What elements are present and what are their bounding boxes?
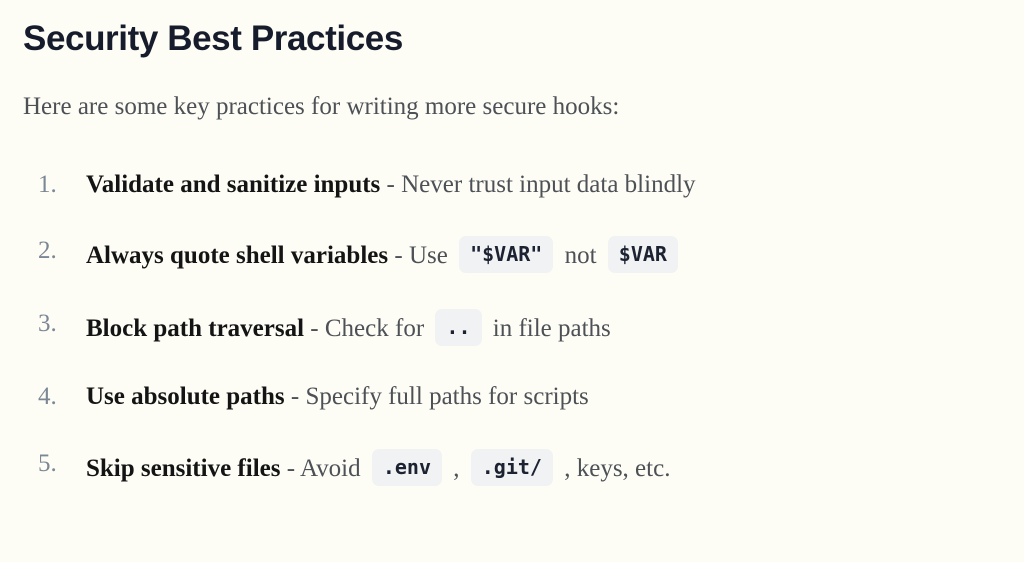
list-item: 3. Block path traversal - Check for .. i… [22,309,1002,346]
practices-list: 1. Validate and sanitize inputs - Never … [22,170,1002,486]
practice-description-after: , keys, etc. [564,455,670,482]
code-chip: $VAR [608,236,678,273]
practice-description: Check for [325,315,424,342]
list-marker: 4. [38,382,76,413]
practice-term: Validate and sanitize inputs [86,171,380,198]
list-marker: 5. [38,449,76,480]
practice-description: Use [409,242,448,269]
list-item: 2. Always quote shell variables - Use "$… [22,236,1002,273]
term-separator: - [287,455,295,482]
code-chip: .git/ [471,449,553,486]
list-marker: 2. [38,236,76,267]
list-marker: 3. [38,309,76,340]
practice-description: Avoid [300,455,361,482]
practice-description-middle: not [565,242,597,269]
practice-description-middle: , [453,455,459,482]
code-chip: .. [435,309,481,346]
term-separator: - [394,242,402,269]
document-body: Security Best Practices Here are some ke… [0,0,1024,486]
list-marker: 1. [38,170,76,201]
practice-description: Specify full paths for scripts [305,383,588,410]
code-chip: "$VAR" [459,236,553,273]
practice-description-middle: in file paths [493,315,611,342]
list-item: 4. Use absolute paths - Specify full pat… [22,382,1002,413]
practice-term: Use absolute paths [86,383,285,410]
code-chip: .env [372,449,442,486]
practice-description: Never trust input data blindly [401,171,695,198]
list-item: 5. Skip sensitive files - Avoid .env , .… [22,449,1002,486]
term-separator: - [291,383,299,410]
list-item: 1. Validate and sanitize inputs - Never … [22,170,1002,201]
term-separator: - [310,315,318,342]
page-title: Security Best Practices [23,18,1002,59]
practice-term: Skip sensitive files [86,455,280,482]
practice-term: Always quote shell variables [86,242,388,269]
practice-term: Block path traversal [86,315,304,342]
intro-paragraph: Here are some key practices for writing … [23,91,1002,124]
term-separator: - [387,171,395,198]
